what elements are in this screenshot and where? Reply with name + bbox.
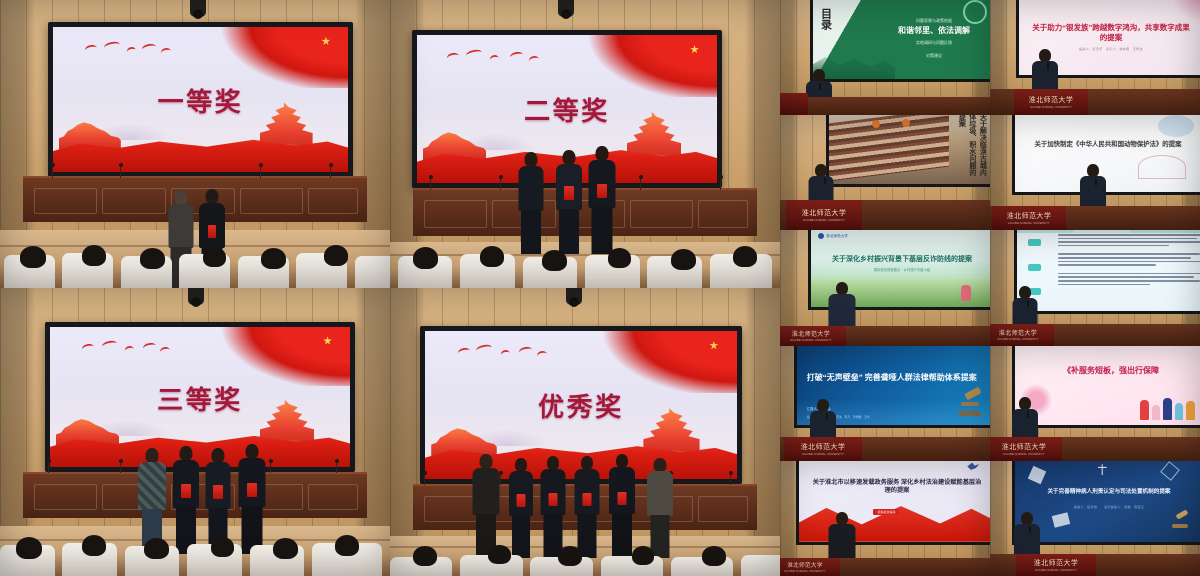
flag-corner-decoration	[579, 35, 717, 97]
podium[interactable]: 淮北师范大学 HUAIBEI NORMAL UNIVERSITY	[786, 200, 862, 230]
award-title-text: 优秀奖	[425, 387, 737, 424]
award-photo-grid: 一等奖	[0, 0, 780, 576]
presentation-photo-transport-service[interactable]: 《补服务短板，强出行保障 淮北师范大学 HUAIBE	[990, 346, 1200, 461]
led-screen: 关于完善精神病人刑责认定与司法处置机制的提案 提案人：赵玲悦 演示提案人：刘歆 …	[1012, 461, 1200, 545]
slide-extra: 对策建议	[884, 53, 984, 59]
presentation-photo-ancient-town-waterlogging[interactable]: 关于解决临涣古城内体垃圾、积水问题的提案 淮北师范大学 HUAIBEI NORM…	[780, 115, 990, 230]
floral-decoration	[1140, 0, 1200, 37]
presentation-photo-grid: 目录 问题背景与政策依据 和谐邻里、依法调解 实地调研与问题反馈 对策建议	[780, 0, 1200, 576]
projector-icon	[190, 0, 206, 17]
presidium-desk	[23, 176, 366, 222]
presentation-photo-silver-digital-divide[interactable]: 关于助力“银发族”跨越数字鸿沟，共享数字成果的提案 提案人：姜天乐 演示人：林向…	[990, 0, 1200, 115]
flag-corner-decoration	[593, 331, 737, 393]
podium-university-name-en: HUAIBEI NORMAL UNIVERSITY	[1030, 106, 1072, 109]
slide-title: 关于加快制定《中华人民共和国动物保护法》的提案	[1023, 141, 1192, 149]
birds-icon	[83, 40, 189, 63]
audience-area	[0, 233, 390, 288]
photo-collage: 一等奖	[0, 0, 1200, 576]
slide-title: 关于完善精神病人刑责认定与司法处置机制的提案	[1036, 489, 1182, 496]
podium[interactable]: 淮北师范大学 HUAIBEI NORMAL UNIVERSITY	[1016, 554, 1096, 576]
slide-authors: 提案人：姜天乐 演示人：林向雨 王梓洁	[1079, 47, 1143, 51]
audience-area	[390, 233, 780, 288]
led-screen: 《补服务短板，强出行保障	[1012, 346, 1200, 428]
curve-decoration	[1138, 155, 1186, 179]
speaker-person	[810, 399, 836, 441]
podium[interactable]: 淮北师范大学 HUAIBEI NORMAL UNIVERSITY	[780, 558, 840, 576]
presidium-desk	[413, 188, 756, 236]
projector-icon	[188, 288, 204, 305]
presentation-photo-deaf-mute-legal-aid[interactable]: 打破“无声壁垒” 完善聋哑人群法律帮助体系提案 汇报人：徐静怡 指导（组）：刘梦…	[780, 346, 990, 461]
slide-title: 《补服务短板，强出行保障	[1051, 366, 1170, 376]
podium-university-name-en: HUAIBEI NORMAL UNIVERSITY	[1008, 222, 1050, 225]
ancient-building-photo	[829, 115, 949, 181]
presentation-photo-mental-illness-liability[interactable]: 关于完善精神病人刑责认定与司法处置机制的提案 提案人：赵玲悦 演示提案人：刘歆 …	[990, 461, 1200, 576]
birds-icon	[456, 344, 568, 368]
lantern-icon	[902, 119, 910, 127]
podium[interactable]: 淮北师范大学 HUAIBEI NORMAL UNIVERSITY	[784, 437, 862, 461]
presentation-photo-rural-antifraud[interactable]: 淮北师范大学 关于深化乡村振兴背景下基层反诈防线的提案 模拟政协提案展示 · 乡…	[780, 230, 990, 345]
birds-icon	[80, 340, 188, 362]
award-photo-first-prize[interactable]: 一等奖	[0, 0, 390, 288]
podium-university-name-en: HUAIBEI NORMAL UNIVERSITY	[790, 339, 832, 342]
slide-subtitle: 模拟政协提案展示 · 乡村振兴专题小组	[874, 267, 930, 272]
audience-area	[390, 539, 780, 576]
slide-title: 打破“无声壁垒” 完善聋哑人群法律帮助体系提案	[797, 373, 989, 383]
dove-icon	[967, 463, 979, 471]
podium-university-name: 淮北师范大学	[801, 442, 846, 452]
flag-corner-decoration	[212, 327, 350, 386]
slide-title: 和谐邻里、依法调解	[884, 26, 984, 36]
award-title-text: 二等奖	[417, 91, 717, 128]
podium-university-name: 淮北师范大学	[1002, 442, 1047, 452]
led-screen	[1014, 230, 1200, 314]
podium-university-name-en: HUAIBEI NORMAL UNIVERSITY	[803, 219, 845, 222]
speaker-person	[808, 164, 833, 204]
podium-university-name-en: HUAIBEI NORMAL UNIVERSITY	[784, 570, 826, 573]
slide-title: 关于深化乡村振兴背景下基层反诈防线的提案	[821, 255, 983, 264]
podium[interactable]: 淮北师范大学 HUAIBEI NORMAL UNIVERSITY	[990, 437, 1062, 461]
podium[interactable]: 淮北师范大学 HUAIBEI NORMAL UNIVERSITY	[990, 324, 1054, 346]
award-title-text: 一等奖	[53, 82, 348, 119]
bullet-tag-icon	[1028, 264, 1041, 271]
podium[interactable]: 淮北师范大学 HUAIBEI NORMAL UNIVERSITY	[1014, 89, 1088, 115]
slide-subtitle: 实地调研与问题反馈	[884, 40, 984, 46]
podium[interactable]: 淮北师范大学 HUAIBEI NORMAL UNIVERSITY	[780, 326, 846, 346]
speaker-person	[1012, 397, 1038, 441]
podium-university-name-en: HUAIBEI NORMAL UNIVERSITY	[1035, 569, 1077, 572]
podium-university-name: 淮北师范大学	[792, 329, 830, 338]
led-screen: 三等奖	[45, 322, 355, 472]
presentation-photo-harmonious-neighborhood[interactable]: 目录 问题背景与政策依据 和谐邻里、依法调解 实地调研与问题反馈 对策建议	[780, 0, 990, 115]
header-band	[1017, 230, 1200, 233]
flag-corner-decoration	[212, 27, 348, 88]
gavel-icon	[1172, 512, 1188, 528]
projector-icon	[566, 288, 582, 305]
presentation-photo-huaibei-egov-rural-law[interactable]: 关于淮北市以移速发载政务服务 深化乡村法治建设赋能基层治理的提案 模拟政协提案 …	[780, 461, 990, 576]
podium-university-name-en: HUAIBEI NORMAL UNIVERSITY	[802, 453, 844, 456]
award-title-text: 三等奖	[50, 380, 350, 417]
podium-university-name: 淮北师范大学	[1029, 95, 1074, 105]
geometric-decoration	[1028, 466, 1046, 484]
slide-subtitle: 模拟政协提案	[873, 509, 899, 515]
award-photo-second-prize[interactable]: 二等奖	[390, 0, 780, 288]
speaker-person	[828, 512, 855, 564]
scales-of-justice-icon	[1098, 464, 1107, 475]
award-photo-excellence-prize[interactable]: 优秀奖	[390, 288, 780, 576]
speaker-person	[1080, 164, 1106, 210]
birds-icon	[447, 48, 555, 72]
geometric-decoration	[1051, 512, 1069, 528]
podium-university-name-en: HUAIBEI NORMAL UNIVERSITY	[997, 338, 1039, 341]
podium	[780, 93, 808, 115]
slide-index-label: 目录	[818, 8, 831, 30]
slide-body-text	[1058, 234, 1200, 285]
podium-university-name: 淮北师范大学	[1034, 558, 1079, 568]
slide-title: 关于解决临涣古城内体垃圾、积水问题的提案	[957, 115, 989, 179]
audience-area	[0, 521, 390, 576]
podium[interactable]: 淮北师范大学 HUAIBEI NORMAL UNIVERSITY	[992, 206, 1066, 230]
bullet-tag-icon	[1028, 239, 1041, 246]
crowd-illustration	[1140, 398, 1195, 420]
led-screen: 关于淮北市以移速发载政务服务 深化乡村法治建设赋能基层治理的提案 模拟政协提案	[796, 461, 990, 545]
geometric-decoration	[1160, 461, 1180, 481]
blob-decoration	[1158, 115, 1194, 137]
presentation-photo-animal-protection-law[interactable]: 关于加快制定《中华人民共和国动物保护法》的提案 淮北师范大学 HUAIBEI N…	[990, 115, 1200, 230]
presentation-photo-proposal-body-text[interactable]: 淮北师范大学 HUAIBEI NORMAL UNIVERSITY	[990, 230, 1200, 345]
podium-university-name: 淮北师范大学	[1007, 211, 1052, 221]
podium-university-name-en: HUAIBEI NORMAL UNIVERSITY	[1003, 453, 1045, 456]
speaker-person	[1014, 512, 1040, 560]
projector-icon	[558, 0, 574, 17]
led-screen: 目录 问题背景与政策依据 和谐邻里、依法调解 实地调研与问题反馈 对策建议	[810, 0, 990, 82]
speaker-person	[1032, 49, 1058, 93]
podium-university-name: 淮北师范大学	[802, 208, 847, 218]
led-screen: 一等奖	[48, 22, 353, 177]
person-illustration	[961, 285, 971, 301]
podium-university-name: 淮北师范大学	[787, 561, 823, 569]
led-screen: 关于加快制定《中华人民共和国动物保护法》的提案	[1012, 115, 1200, 195]
slide-title: 关于淮北市以移速发载政务服务 深化乡村法治建设赋能基层治理的提案	[799, 479, 990, 495]
award-photo-third-prize[interactable]: 三等奖	[0, 288, 390, 576]
led-screen: 关于解决临涣古城内体垃圾、积水问题的提案	[826, 115, 990, 187]
university-logo: 淮北师范大学	[818, 233, 848, 239]
slide-authors: 提案人：赵玲悦 演示提案人：刘歆 陈佳云	[1074, 505, 1145, 509]
podium-university-name: 淮北师范大学	[999, 328, 1037, 337]
